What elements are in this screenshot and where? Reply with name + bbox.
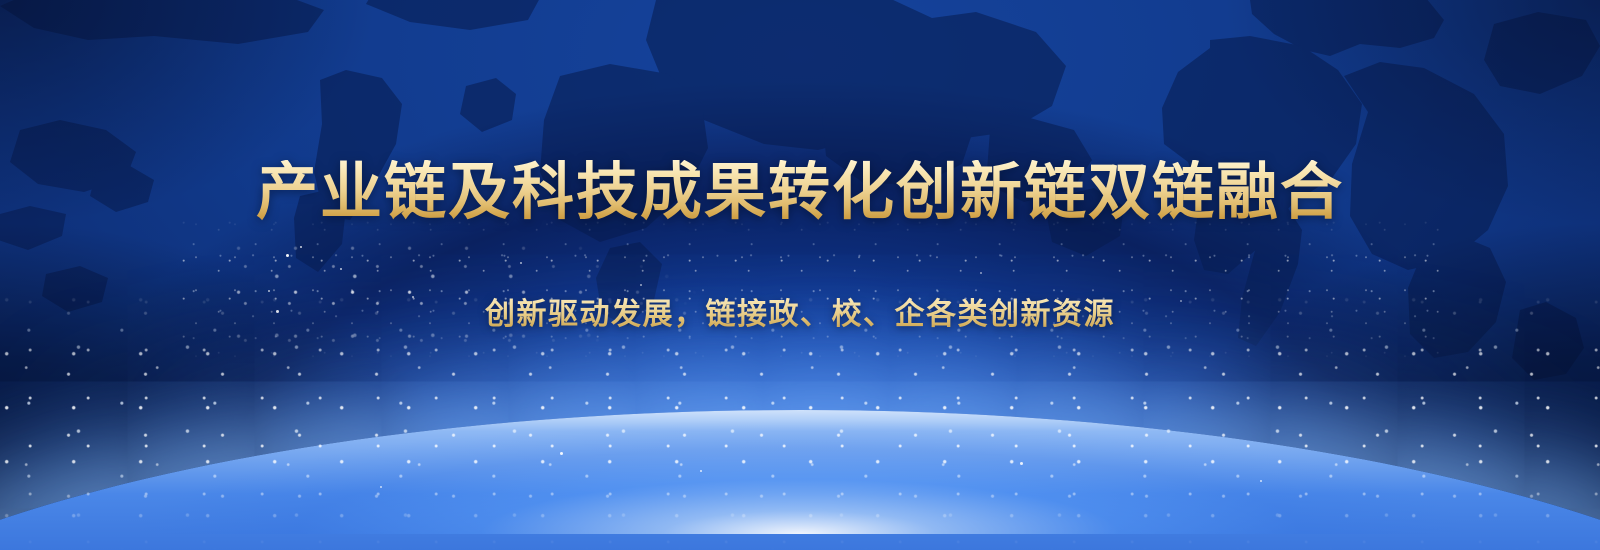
hero-banner: 产业链及科技成果转化创新链双链融合 创新驱动发展，链接政、校、企各类创新资源	[0, 0, 1600, 550]
banner-content: 产业链及科技成果转化创新链双链融合 创新驱动发展，链接政、校、企各类创新资源	[0, 0, 1600, 550]
banner-sub-title: 创新驱动发展，链接政、校、企各类创新资源	[485, 289, 1115, 333]
banner-main-title: 产业链及科技成果转化创新链双链融合	[256, 160, 1344, 226]
